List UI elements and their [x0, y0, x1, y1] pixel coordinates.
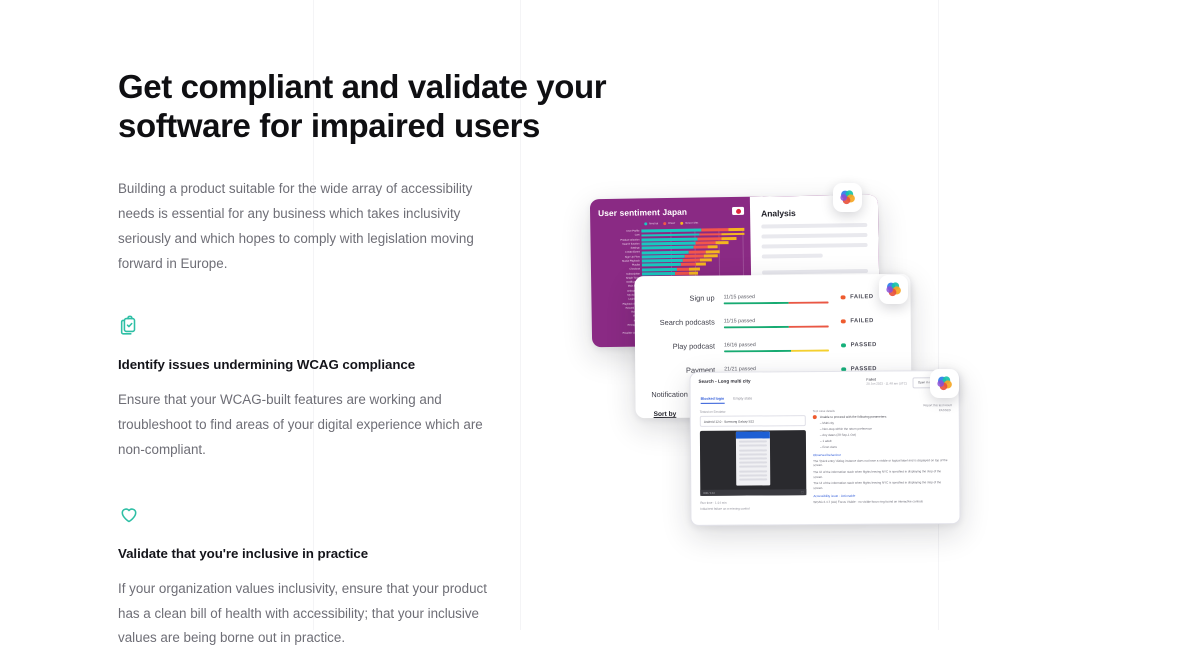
sentiment-card-title: User sentiment Japan: [598, 207, 687, 218]
step-item: – Multi city: [820, 420, 951, 426]
brand-logo-badge: [879, 275, 908, 304]
test-result-row[interactable]: Play podcast16/16 passedPASSED: [635, 333, 911, 359]
video-player[interactable]: 0:00 / 1:14 ⛶: [700, 430, 806, 496]
device-meta: Tested on Emulator: [700, 409, 806, 414]
failed-step-row: Unable to proceed with the following par…: [813, 414, 951, 420]
observed-note: The 'Quick entry' dialog instance does n…: [813, 458, 951, 468]
intro-paragraph: Building a product suitable for the wide…: [118, 145, 508, 276]
step-item: – 1 adult: [820, 438, 951, 444]
status-dot-icon: [841, 343, 846, 348]
skeleton-line: [761, 223, 867, 229]
steps-header: Test case details: [813, 408, 835, 412]
status-badge: PASSED: [829, 342, 903, 349]
feature-body: Ensure that your WCAG-built features are…: [118, 388, 510, 462]
failed-step-text: Unable to proceed with the following par…: [820, 414, 887, 419]
test-name: Play podcast: [641, 342, 724, 352]
test-result-row[interactable]: Sign up11/15 passedFAILED: [634, 285, 910, 311]
notes-footer-text: WCAG 2.4.7 (AA) Focus Visible · no visib…: [813, 499, 951, 505]
video-controls[interactable]: 0:00 / 1:14 ⛶: [700, 489, 806, 496]
detail-header: Search - Long multi city Failed 20 Jun 2…: [690, 371, 958, 389]
product-screenshot-cluster: User sentiment Japan NeutralCSATNever Me…: [575, 175, 995, 550]
observed-note: The UI of the information stack when fli…: [813, 481, 951, 491]
run-time-meta: Run time · 1:14 min: [700, 500, 806, 505]
feature-block-wcag-compliance: Identify issues undermining WCAG complia…: [118, 276, 510, 462]
brand-logo-badge: [930, 369, 959, 398]
status-dot-icon: [841, 295, 846, 300]
test-pass-count: 11/15 passed: [724, 293, 829, 300]
step-item: – Any dates (28 Sep-1 Oct): [820, 432, 951, 438]
test-progress-bar: [724, 350, 829, 353]
brand-petals-icon: [884, 280, 903, 299]
skeleton-line: [762, 243, 868, 249]
status-label: PASSED: [851, 342, 877, 348]
step-item: – Non-stop within the return preference: [820, 426, 951, 432]
legend-item: CSAT: [663, 222, 675, 225]
page-title: Get compliant and validate your software…: [118, 68, 718, 145]
test-name: Sign up: [641, 294, 724, 304]
test-pass-count: 16/16 passed: [724, 341, 829, 348]
legend-item: Neutral: [644, 222, 658, 225]
status-label: FAILED: [850, 294, 873, 300]
skeleton-line: [762, 254, 824, 259]
feature-block-inclusive-practice: Validate that you're inclusive in practi…: [118, 463, 510, 651]
clipboard-check-icon: [118, 314, 140, 336]
detail-title: Search - Long multi city: [699, 379, 751, 384]
status-label: FAILED: [850, 318, 873, 324]
test-progress-bar: [724, 302, 829, 305]
japan-flag-icon: [732, 207, 744, 216]
fail-dot-icon: [813, 415, 817, 419]
legend-item: Never Met: [680, 222, 698, 225]
detail-tab[interactable]: Blocked login: [701, 396, 725, 403]
observed-note: The UI of the information stack when fli…: [813, 469, 951, 479]
detail-body: Tested on Emulator Android 12.0 · Samsun…: [691, 402, 960, 511]
feature-body: If your organization values inclusivity,…: [118, 577, 510, 651]
detail-status-meta: 20 Jun 2023 · 11:48 am (UTC): [866, 381, 906, 385]
test-detail-card[interactable]: Search - Long multi city Failed 20 Jun 2…: [689, 370, 960, 526]
test-progress-bar: [724, 326, 829, 329]
footer-note: Initial test failure on a missing contro…: [700, 506, 806, 511]
notes-title: Observed behaviour: [813, 452, 951, 457]
status-badge: FAILED: [829, 318, 903, 325]
video-fullscreen-icon[interactable]: ⛶: [802, 491, 804, 494]
brand-petals-icon: [838, 188, 857, 207]
heart-icon: [118, 503, 140, 525]
status-dot-icon: [841, 319, 846, 324]
detail-footer: Run time · 1:14 min Initial test failure…: [700, 495, 806, 511]
chart-legend: NeutralCSATNever Met: [598, 221, 744, 226]
page-root: Get compliant and validate your software…: [0, 0, 1200, 630]
report-result-link[interactable]: Report this test result: [923, 403, 951, 407]
phone-screen-preview: [736, 431, 770, 485]
notes-footer-label: Accessibility issue · Actionable: [813, 493, 951, 498]
test-result-row[interactable]: Search podcasts11/15 passedFAILED: [635, 309, 911, 335]
skeleton-line: [761, 233, 867, 239]
device-chip: Android 12.0 · Samsung Galaxy S22: [700, 415, 806, 427]
feature-title: Identify issues undermining WCAG complia…: [118, 357, 510, 372]
brand-petals-icon: [935, 374, 954, 393]
video-timestamp: 0:00 / 1:14: [703, 491, 714, 494]
steps-status: PASSED: [939, 408, 951, 412]
brand-logo-badge: [833, 183, 862, 212]
feature-title: Validate that you're inclusive in practi…: [118, 546, 510, 561]
test-name: Search podcasts: [641, 318, 724, 328]
test-pass-count: 11/15 passed: [724, 317, 829, 324]
step-item: – Econ class: [820, 444, 951, 450]
detail-tab[interactable]: Empty state: [733, 396, 752, 403]
sentiment-card-header: User sentiment Japan: [598, 206, 744, 218]
